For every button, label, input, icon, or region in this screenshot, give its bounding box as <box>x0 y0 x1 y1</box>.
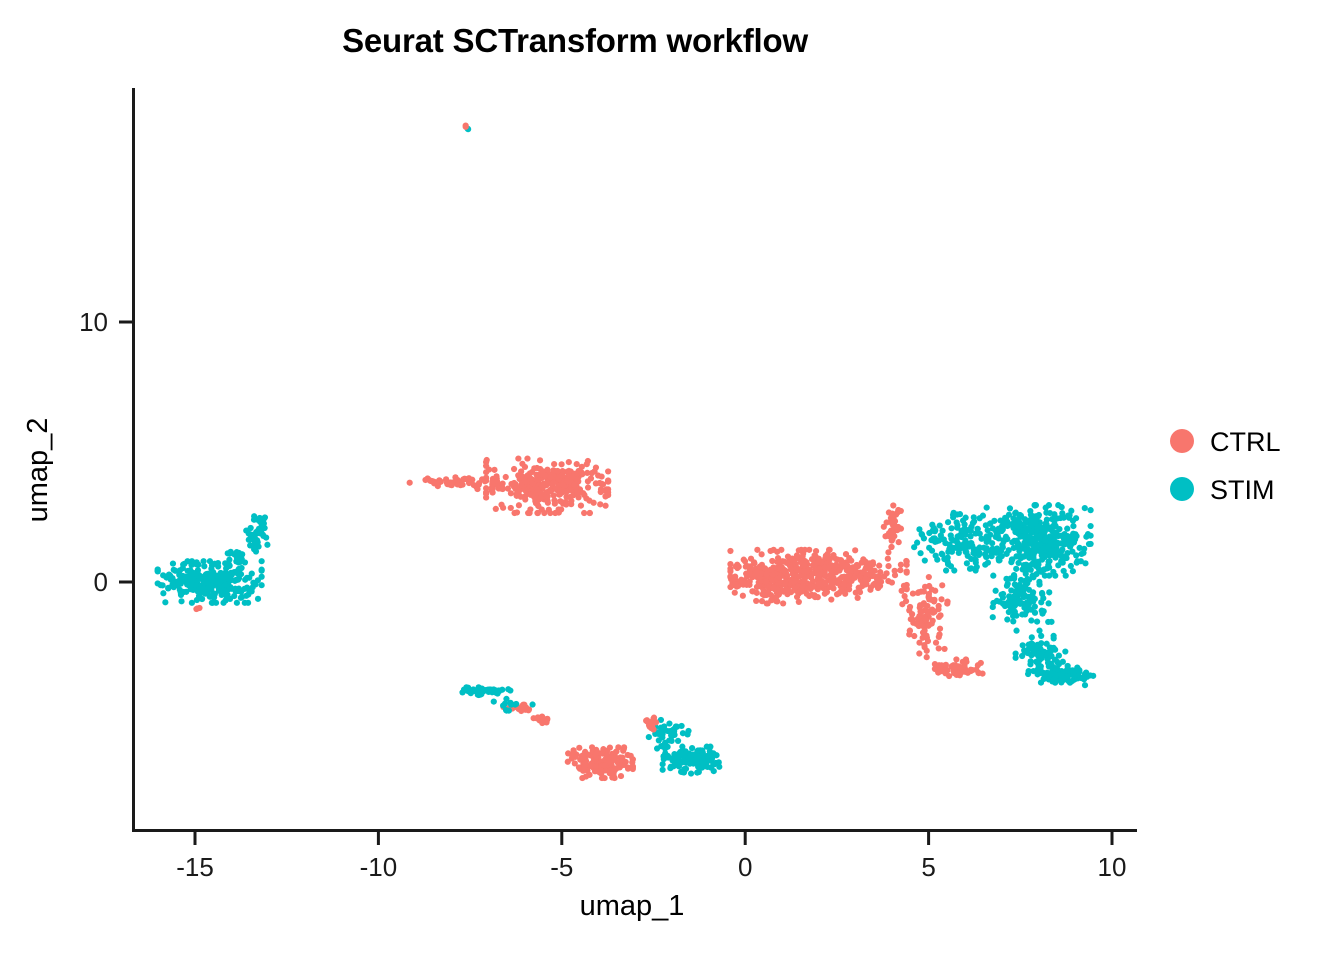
scatter-point <box>941 646 947 652</box>
scatter-point <box>516 502 522 508</box>
scatter-point <box>1068 542 1074 548</box>
scatter-point <box>740 593 746 599</box>
scatter-point <box>755 583 761 589</box>
plot-axes <box>132 88 1137 831</box>
scatter-point <box>991 518 997 524</box>
scatter-point <box>1042 538 1048 544</box>
scatter-point <box>866 560 872 566</box>
scatter-point <box>1059 547 1065 553</box>
scatter-point <box>1057 678 1063 684</box>
scatter-point <box>776 574 782 580</box>
scatter-point <box>812 594 818 600</box>
scatter-point <box>732 590 738 596</box>
scatter-point <box>954 519 960 525</box>
scatter-point <box>938 662 944 668</box>
scatter-point <box>969 667 975 673</box>
scatter-point <box>563 501 569 507</box>
scatter-point <box>513 701 519 707</box>
scatter-point <box>990 600 996 606</box>
scatter-point <box>259 522 265 528</box>
scatter-point <box>857 589 863 595</box>
scatter-point <box>222 569 228 575</box>
scatter-point <box>1018 577 1024 583</box>
legend-swatch-stim[interactable] <box>1170 477 1194 501</box>
scatter-point <box>1086 541 1092 547</box>
scatter-point <box>596 768 602 774</box>
scatter-point <box>1034 535 1040 541</box>
scatter-point <box>926 574 932 580</box>
scatter-point <box>602 762 608 768</box>
scatter-point <box>537 457 543 463</box>
scatter-point <box>973 560 979 566</box>
scatter-point <box>1049 516 1055 522</box>
scatter-point <box>1070 523 1076 529</box>
scatter-point <box>165 585 171 591</box>
scatter-point <box>183 589 189 595</box>
scatter-point <box>1082 505 1088 511</box>
scatter-point <box>872 568 878 574</box>
scatter-point <box>253 548 259 554</box>
scatter-point <box>934 667 940 673</box>
scatter-point <box>934 557 940 563</box>
scatter-point <box>973 567 979 573</box>
scatter-point <box>984 505 990 511</box>
scatter-point <box>800 557 806 563</box>
scatter-point <box>1088 507 1094 513</box>
scatter-point <box>827 557 833 563</box>
scatter-point <box>558 473 564 479</box>
scatter-point <box>599 775 605 781</box>
scatter-point <box>1030 574 1036 580</box>
scatter-point <box>661 723 667 729</box>
scatter-point <box>842 591 848 597</box>
scatter-point <box>207 576 213 582</box>
scatter-point <box>888 544 894 550</box>
scatter-point <box>1088 523 1094 529</box>
scatter-point <box>461 686 467 692</box>
x-tick-label: 10 <box>1098 852 1127 882</box>
scatter-point <box>1041 529 1047 535</box>
scatter-point <box>847 568 853 574</box>
y-tick-label: 10 <box>79 307 108 337</box>
scatter-point <box>1011 576 1017 582</box>
scatter-point <box>1055 533 1061 539</box>
scatter-point <box>770 584 776 590</box>
scatter-point <box>194 605 200 611</box>
scatter-point <box>233 553 239 559</box>
scatter-point <box>470 686 476 692</box>
scatter-point <box>995 533 1001 539</box>
scatter-point <box>666 720 672 726</box>
scatter-point <box>924 654 930 660</box>
scatter-point <box>898 562 904 568</box>
scatter-point <box>1056 526 1062 532</box>
scatter-point <box>1049 524 1055 530</box>
scatter-point <box>885 549 891 555</box>
scatter-point <box>560 482 566 488</box>
legend-swatch-ctrl[interactable] <box>1170 429 1194 453</box>
scatter-point <box>877 569 883 575</box>
scatter-point <box>885 563 891 569</box>
scatter-point <box>190 571 196 577</box>
scatter-point <box>707 744 713 750</box>
scatter-point <box>764 571 770 577</box>
scatter-point <box>825 565 831 571</box>
scatter-point <box>490 486 496 492</box>
scatter-point <box>1034 619 1040 625</box>
scatter-point <box>923 617 929 623</box>
scatter-point <box>162 599 168 605</box>
scatter-point <box>551 492 557 498</box>
scatter-point <box>571 481 577 487</box>
scatter-point <box>1029 634 1035 640</box>
scatter-point <box>953 656 959 662</box>
scatter-point <box>1045 619 1051 625</box>
scatter-point <box>529 480 535 486</box>
scatter-point <box>972 546 978 552</box>
scatter-point <box>740 579 746 585</box>
scatter-point <box>1025 646 1031 652</box>
scatter-point <box>1046 502 1052 508</box>
scatter-point <box>958 528 964 534</box>
scatter-point <box>824 589 830 595</box>
scatter-point <box>732 581 738 587</box>
scatter-point <box>246 575 252 581</box>
scatter-point <box>483 491 489 497</box>
scatter-point <box>607 768 613 774</box>
scatter-point <box>1046 589 1052 595</box>
scatter-point <box>741 557 747 563</box>
scatter-point <box>660 761 666 767</box>
scatter-point <box>260 533 266 539</box>
scatter-point <box>222 597 228 603</box>
scatter-point <box>1038 679 1044 685</box>
scatter-point <box>675 738 681 744</box>
scatter-point <box>922 557 928 563</box>
scatter-point <box>897 567 903 573</box>
scatter-point <box>1082 560 1088 566</box>
scatter-point <box>822 580 828 586</box>
scatter-point <box>780 600 786 606</box>
scatter-point <box>155 580 161 586</box>
scatter-point <box>552 510 558 516</box>
umap-scatter-figure: Seurat SCTransform workflow -15-10-50510… <box>0 0 1344 960</box>
scatter-point <box>732 573 738 579</box>
scatter-point <box>491 467 497 473</box>
scatter-point <box>948 525 954 531</box>
scatter-point <box>630 763 636 769</box>
scatter-point <box>245 600 251 606</box>
scatter-point <box>1060 669 1066 675</box>
scatter-point <box>1017 601 1023 607</box>
scatter-point <box>996 550 1002 556</box>
scatter-point <box>904 558 910 564</box>
scatter-point <box>1013 655 1019 661</box>
scatter-point <box>1000 591 1006 597</box>
scatter-point <box>1036 651 1042 657</box>
scatter-point <box>1061 568 1067 574</box>
scatter-point <box>1028 617 1034 623</box>
scatter-point <box>1073 552 1079 558</box>
scatter-point <box>588 475 594 481</box>
scatter-point <box>1025 527 1031 533</box>
scatter-point <box>251 513 257 519</box>
scatter-point <box>670 732 676 738</box>
scatter-point <box>515 455 521 461</box>
scatter-point <box>1028 536 1034 542</box>
scatter-point <box>945 519 951 525</box>
scatter-point <box>774 598 780 604</box>
scatter-point <box>231 593 237 599</box>
scatter-point <box>754 590 760 596</box>
scatter-point <box>890 502 896 508</box>
scatter-point <box>250 584 256 590</box>
scatter-point <box>822 572 828 578</box>
scatter-point <box>990 614 996 620</box>
scatter-point <box>234 600 240 606</box>
scatter-point <box>713 752 719 758</box>
scatter-point <box>975 662 981 668</box>
scatter-point <box>916 623 922 629</box>
scatter-point <box>1015 583 1021 589</box>
y-tick-label: 0 <box>94 567 108 597</box>
y-axis-title: umap_2 <box>22 418 54 523</box>
scatter-point <box>1070 568 1076 574</box>
scatter-point <box>948 544 954 550</box>
scatter-point <box>1046 600 1052 606</box>
scatter-point <box>565 759 571 765</box>
scatter-point <box>679 744 685 750</box>
scatter-point <box>680 730 686 736</box>
scatter-point <box>1051 645 1057 651</box>
scatter-point <box>160 572 166 578</box>
scatter-point <box>483 463 489 469</box>
scatter-point <box>765 600 771 606</box>
scatter-point <box>598 473 604 479</box>
scatter-point <box>711 768 717 774</box>
scatter-point <box>514 509 520 515</box>
scatter-point <box>576 468 582 474</box>
scatter-point <box>791 579 797 585</box>
scatter-point <box>525 707 531 713</box>
scatter-point <box>1039 591 1045 597</box>
scatter-point <box>1038 633 1044 639</box>
scatter-point <box>508 490 514 496</box>
legend-label-ctrl[interactable]: CTRL <box>1210 427 1281 457</box>
scatter-point <box>896 539 902 545</box>
scatter-point <box>929 548 935 554</box>
scatter-point <box>576 745 582 751</box>
scatter-point <box>685 728 691 734</box>
scatter-point <box>996 557 1002 563</box>
scatter-point <box>1083 534 1089 540</box>
scatter-point <box>491 699 497 705</box>
scatter-point <box>194 559 200 565</box>
scatter-point <box>436 479 442 485</box>
scatter-point <box>944 598 950 604</box>
scatter-point <box>527 470 533 476</box>
scatter-point <box>694 754 700 760</box>
scatter-point <box>484 457 490 463</box>
scatter-point <box>587 510 593 516</box>
scatter-point <box>605 479 611 485</box>
scatter-point <box>644 717 650 723</box>
scatter-point <box>1052 573 1058 579</box>
scatter-point <box>620 748 626 754</box>
scatter-point <box>667 765 673 771</box>
scatter-point <box>917 550 923 556</box>
scatter-point <box>463 122 469 128</box>
scatter-point <box>407 480 413 486</box>
scatter-point <box>727 568 733 574</box>
scatter-point <box>903 598 909 604</box>
scatter-point <box>1062 648 1068 654</box>
scatter-point <box>794 552 800 558</box>
scatter-point <box>207 558 213 564</box>
scatter-point <box>1044 641 1050 647</box>
scatter-point <box>689 745 695 751</box>
scatter-point <box>466 475 472 481</box>
scatter-point <box>493 506 499 512</box>
scatter-points-layer <box>155 122 1097 781</box>
scatter-point <box>999 523 1005 529</box>
scatter-point <box>581 510 587 516</box>
scatter-point <box>1090 673 1096 679</box>
scatter-point <box>837 576 843 582</box>
scatter-point <box>541 510 547 516</box>
scatter-point <box>1071 672 1077 678</box>
scatter-point <box>925 638 931 644</box>
scatter-point <box>1007 595 1013 601</box>
scatter-point <box>727 548 733 554</box>
scatter-point <box>816 581 822 587</box>
scatter-point <box>659 734 665 740</box>
scatter-point <box>539 468 545 474</box>
scatter-point <box>677 749 683 755</box>
scatter-point <box>669 738 675 744</box>
scatter-point <box>1013 628 1019 634</box>
scatter-point <box>602 503 608 509</box>
scatter-point <box>248 525 254 531</box>
scatter-point <box>801 576 807 582</box>
scatter-point <box>525 510 531 516</box>
scatter-point <box>1036 628 1042 634</box>
scatter-point <box>1082 682 1088 688</box>
scatter-point <box>1041 566 1047 572</box>
scatter-point <box>828 596 834 602</box>
scatter-point <box>184 574 190 580</box>
scatter-point <box>160 590 166 596</box>
scatter-point <box>950 512 956 518</box>
scatter-point <box>961 542 967 548</box>
scatter-point <box>727 561 733 567</box>
legend-label-stim[interactable]: STIM <box>1210 475 1275 505</box>
scatter-point <box>1039 608 1045 614</box>
scatter-point <box>192 582 198 588</box>
scatter-point <box>1020 533 1026 539</box>
scatter-point <box>579 775 585 781</box>
scatter-point <box>498 502 504 508</box>
scatter-point <box>937 626 943 632</box>
scatter-point <box>1026 668 1032 674</box>
scatter-point <box>506 708 512 714</box>
scatter-point <box>665 754 671 760</box>
scatter-point <box>1033 519 1039 525</box>
scatter-point <box>177 567 183 573</box>
scatter-point <box>1070 531 1076 537</box>
scatter-point <box>922 627 928 633</box>
scatter-point <box>213 573 219 579</box>
scatter-point <box>745 571 751 577</box>
scatter-point <box>479 476 485 482</box>
scatter-point <box>196 593 202 599</box>
scatter-point <box>889 520 895 526</box>
scatter-point <box>1084 674 1090 680</box>
scatter-point <box>178 598 184 604</box>
scatter-point <box>911 544 917 550</box>
scatter-point <box>662 745 668 751</box>
scatter-point <box>1053 672 1059 678</box>
scatter-point <box>567 494 573 500</box>
scatter-point <box>1018 553 1024 559</box>
scatter-point <box>247 542 253 548</box>
scatter-point <box>503 474 509 480</box>
scatter-point <box>204 586 210 592</box>
scatter-point <box>484 687 490 693</box>
scatter-point <box>1006 512 1012 518</box>
scatter-point <box>264 542 270 548</box>
scatter-point <box>769 558 775 564</box>
scatter-point <box>830 585 836 591</box>
scatter-point <box>862 576 868 582</box>
scatter-point <box>628 753 634 759</box>
scatter-point <box>885 578 891 584</box>
scatter-point <box>936 537 942 543</box>
scatter-point <box>1036 524 1042 530</box>
scatter-point <box>1004 523 1010 529</box>
scatter-point <box>990 573 996 579</box>
scatter-point <box>1004 583 1010 589</box>
scatter-point <box>993 588 999 594</box>
scatter-point <box>939 551 945 557</box>
scatter-point <box>916 650 922 656</box>
scatter-point <box>1004 616 1010 622</box>
scatter-point <box>559 489 565 495</box>
scatter-point <box>926 596 932 602</box>
scatter-point <box>491 686 497 692</box>
scatter-point <box>853 569 859 575</box>
scatter-point <box>605 489 611 495</box>
scatter-point <box>1067 680 1073 686</box>
scatter-point <box>660 767 666 773</box>
x-tick-label: -5 <box>550 852 573 882</box>
scatter-point <box>809 583 815 589</box>
scatter-point <box>960 517 966 523</box>
scatter-point <box>489 479 495 485</box>
scatter-point <box>681 758 687 764</box>
scatter-point <box>605 468 611 474</box>
scatter-point <box>965 553 971 559</box>
scatter-point <box>171 584 177 590</box>
scatter-point <box>828 579 834 585</box>
scatter-point <box>800 583 806 589</box>
scatter-point <box>683 766 689 772</box>
scatter-point <box>519 706 525 712</box>
scatter-point <box>987 532 993 538</box>
scatter-point <box>221 588 227 594</box>
scatter-point <box>671 757 677 763</box>
scatter-point <box>754 547 760 553</box>
